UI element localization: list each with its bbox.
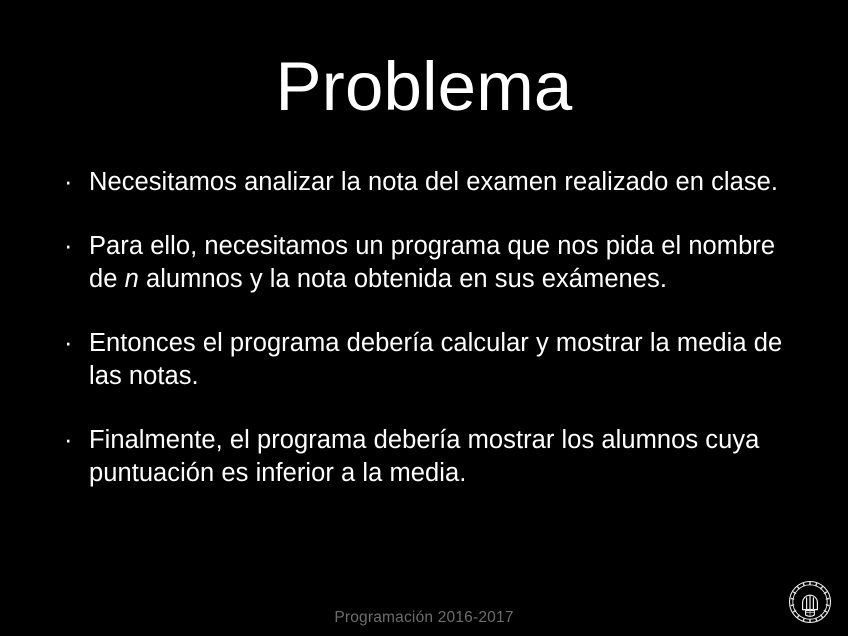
- bullet-text: Necesitamos analizar la nota del examen …: [89, 166, 783, 200]
- bullet-text: Para ello, necesitamos un programa que n…: [89, 230, 783, 297]
- bullet-text: Finalmente, el programa debería mostrar …: [89, 424, 783, 491]
- bullet-text-after-variable: alumnos y la nota obtenida en sus exámen…: [139, 265, 667, 293]
- list-item: · Finalmente, el programa debería mostra…: [58, 424, 783, 491]
- slide-footer: Programación 2016-2017: [0, 609, 848, 627]
- list-item: · Entonces el programa debería calcular …: [58, 327, 783, 394]
- slide-title: Problema: [0, 47, 848, 127]
- list-item: · Necesitamos analizar la nota del exame…: [58, 166, 783, 200]
- bullet-marker-icon: ·: [64, 424, 78, 458]
- variable-n: n: [125, 265, 139, 293]
- university-seal-icon: [786, 578, 834, 626]
- presentation-slide: Problema · Necesitamos analizar la nota …: [0, 0, 848, 636]
- bullet-marker-icon: ·: [64, 327, 78, 361]
- bullet-marker-icon: ·: [64, 230, 78, 264]
- bullet-list: · Necesitamos analizar la nota del exame…: [58, 166, 783, 491]
- list-item: · Para ello, necesitamos un programa que…: [58, 230, 783, 297]
- bullet-text: Entonces el programa debería calcular y …: [89, 327, 783, 394]
- bullet-marker-icon: ·: [64, 166, 78, 200]
